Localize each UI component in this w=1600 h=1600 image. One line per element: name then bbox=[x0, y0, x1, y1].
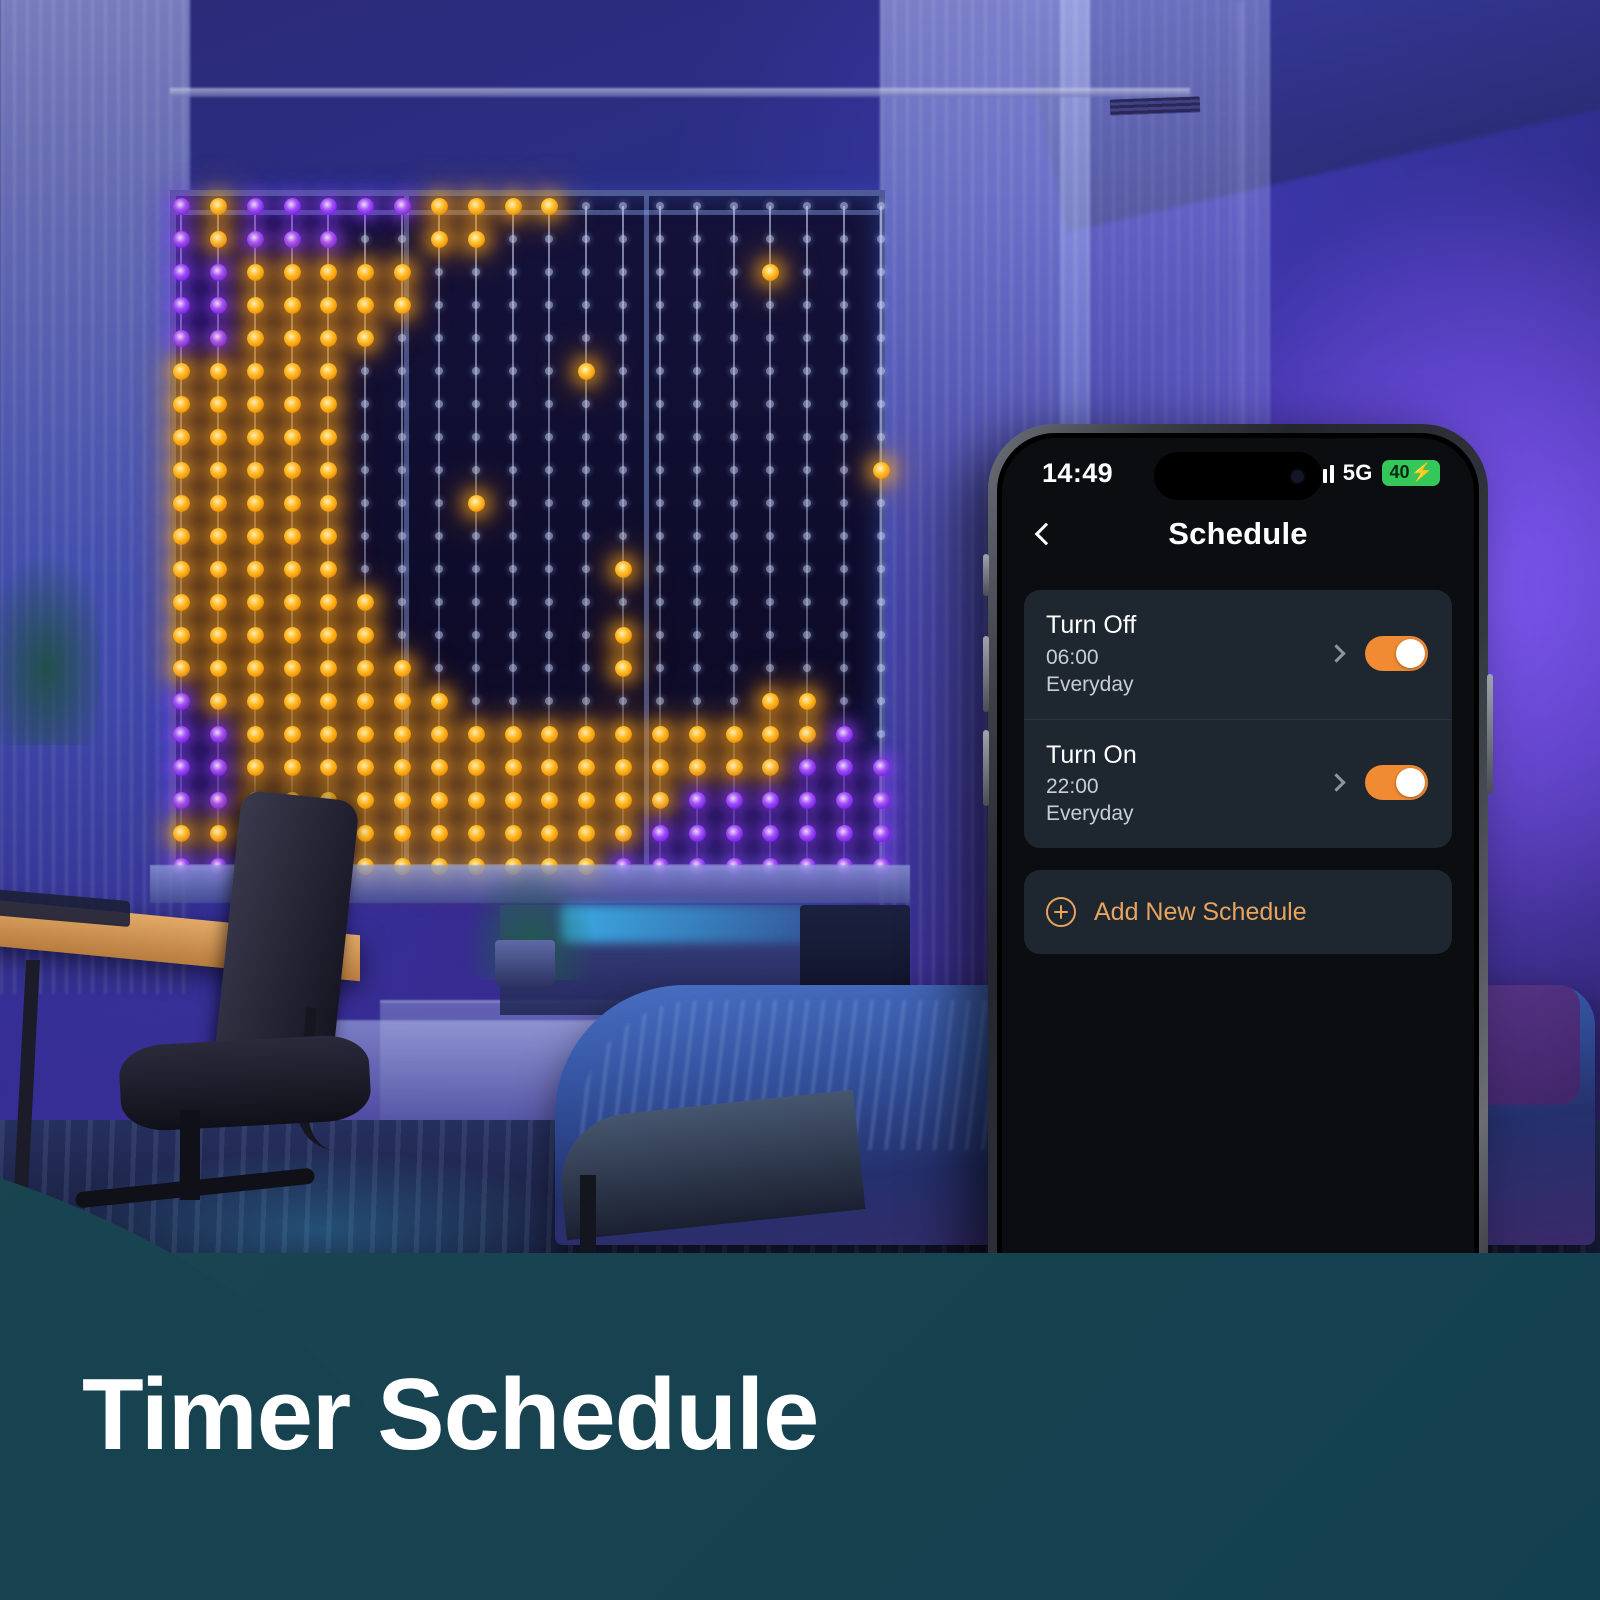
phone-power-button[interactable] bbox=[1487, 674, 1493, 794]
nightstand bbox=[800, 905, 910, 995]
schedule-list-card: Turn Off 06:00 Everyday Turn On 22:00 bbox=[1024, 590, 1452, 848]
schedule-content: Turn Off 06:00 Everyday Turn On 22:00 bbox=[1002, 572, 1474, 954]
page-title: Schedule bbox=[1002, 516, 1474, 552]
chevron-right-icon[interactable] bbox=[1327, 774, 1345, 792]
schedule-title: Turn On bbox=[1046, 740, 1330, 771]
schedule-time: 22:00 bbox=[1046, 775, 1330, 799]
schedule-toggle[interactable] bbox=[1365, 765, 1428, 800]
nav-bar: Schedule bbox=[1002, 496, 1474, 572]
plant-left bbox=[0, 555, 100, 745]
schedule-toggle[interactable] bbox=[1365, 636, 1428, 671]
phone-action-button[interactable] bbox=[983, 554, 989, 596]
network-type-label: 5G bbox=[1343, 460, 1373, 486]
plant-pot bbox=[495, 940, 555, 988]
phone-volume-down-button[interactable] bbox=[983, 730, 989, 806]
schedule-time: 06:00 bbox=[1046, 646, 1330, 670]
dynamic-island bbox=[1154, 452, 1322, 500]
office-chair-seat bbox=[118, 1034, 372, 1133]
smartphone-mockup: 14:49 5G 40 ⚡ Schedule bbox=[988, 424, 1488, 1324]
bed-leg bbox=[580, 1175, 596, 1255]
schedule-repeat: Everyday bbox=[1046, 673, 1330, 697]
status-clock: 14:49 bbox=[1042, 458, 1113, 489]
product-banner-image: 14:49 5G 40 ⚡ Schedule bbox=[0, 0, 1600, 1600]
phone-volume-up-button[interactable] bbox=[983, 636, 989, 712]
schedule-row[interactable]: Turn Off 06:00 Everyday bbox=[1024, 590, 1452, 719]
chevron-right-icon[interactable] bbox=[1327, 644, 1345, 662]
add-schedule-card[interactable]: Add New Schedule bbox=[1024, 870, 1452, 954]
status-bar: 14:49 5G 40 ⚡ bbox=[1002, 438, 1474, 496]
schedule-repeat: Everyday bbox=[1046, 802, 1330, 826]
add-new-schedule-button[interactable]: Add New Schedule bbox=[1024, 870, 1452, 954]
curtain-left bbox=[0, 0, 190, 994]
battery-status-badge: 40 ⚡ bbox=[1382, 460, 1440, 486]
phone-screen: 14:49 5G 40 ⚡ Schedule bbox=[1002, 438, 1474, 1310]
led-curtain-lights bbox=[180, 206, 880, 866]
schedule-title: Turn Off bbox=[1046, 610, 1330, 641]
curtain-rod bbox=[170, 88, 1190, 97]
schedule-row[interactable]: Turn On 22:00 Everyday bbox=[1024, 719, 1452, 849]
wall-vent bbox=[1110, 96, 1201, 115]
add-new-schedule-label: Add New Schedule bbox=[1094, 898, 1307, 927]
battery-charging-icon: ⚡ bbox=[1411, 462, 1433, 483]
banner-title: Timer Schedule bbox=[82, 1358, 818, 1473]
battery-level-label: 40 bbox=[1390, 462, 1410, 483]
front-camera-icon bbox=[1291, 470, 1304, 483]
plus-circle-icon bbox=[1046, 897, 1076, 927]
